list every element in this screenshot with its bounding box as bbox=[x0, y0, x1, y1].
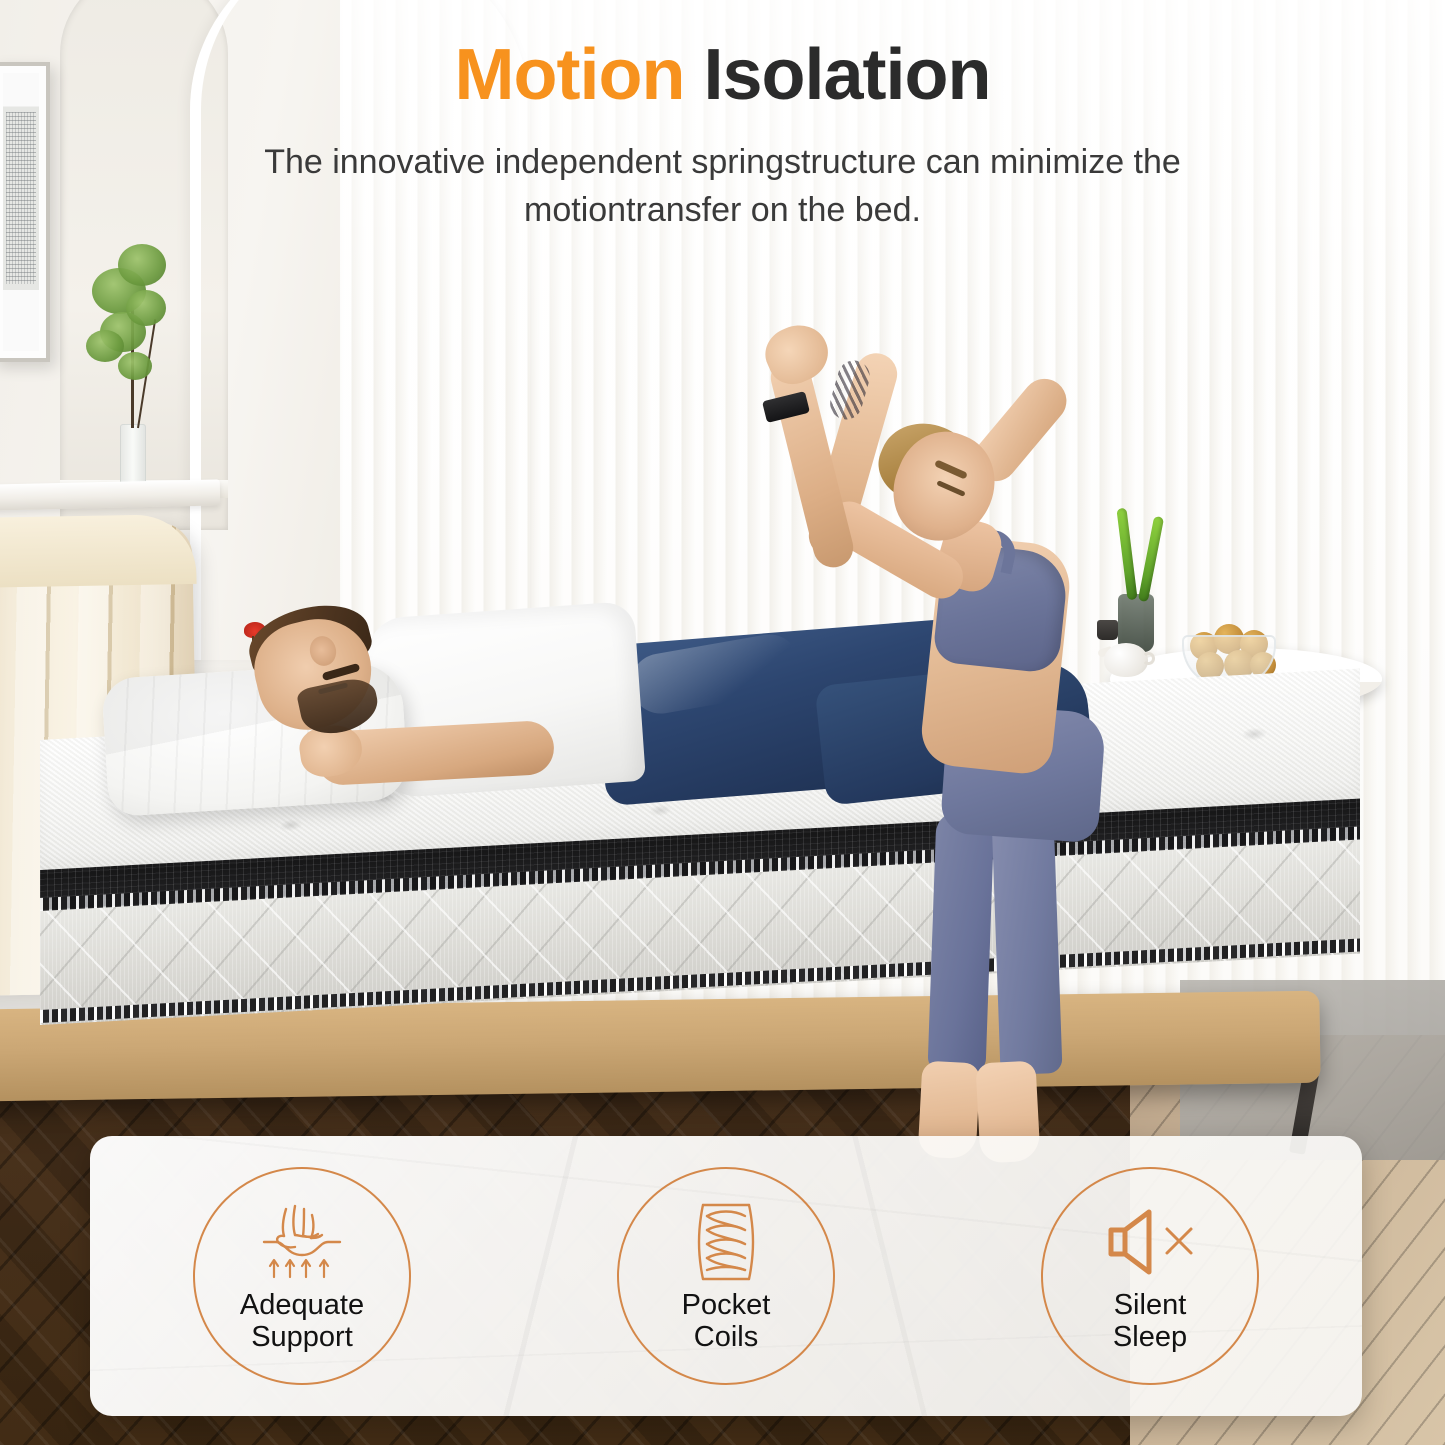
woman-right-leg bbox=[991, 811, 1062, 1075]
headboard-top-curve bbox=[0, 514, 197, 588]
feature-label-line1: Silent bbox=[1113, 1289, 1187, 1321]
feature-label-line2: Coils bbox=[682, 1321, 771, 1353]
feature-badge-label: Pocket Coils bbox=[682, 1289, 771, 1354]
feature-label-line1: Pocket bbox=[682, 1289, 771, 1321]
woman-left-leg bbox=[927, 811, 994, 1073]
feature-badge-list: Adequate Support bbox=[90, 1136, 1362, 1416]
plant-foliage bbox=[86, 330, 124, 362]
plant-foliage bbox=[126, 290, 166, 326]
plant-foliage bbox=[118, 244, 166, 286]
teapot-handle bbox=[1142, 652, 1155, 665]
feature-label-line1: Adequate bbox=[240, 1289, 364, 1321]
feature-badge-label: Silent Sleep bbox=[1113, 1289, 1187, 1354]
feature-panel: Adequate Support bbox=[90, 1136, 1362, 1416]
product-marketing-image: Motion Isolation The innovative independ… bbox=[0, 0, 1445, 1445]
feature-badge-adequate-support[interactable]: Adequate Support bbox=[193, 1167, 411, 1385]
feature-badge-silent-sleep[interactable]: Silent Sleep bbox=[1041, 1167, 1259, 1385]
page-title: Motion Isolation bbox=[0, 38, 1445, 114]
feature-badge-label: Adequate Support bbox=[240, 1289, 364, 1354]
art-print-texture bbox=[6, 112, 36, 284]
headline-rest: Isolation bbox=[684, 35, 990, 115]
pocket-coil-spring-icon bbox=[690, 1199, 762, 1285]
art-mat bbox=[3, 73, 39, 351]
headline-accent-word: Motion bbox=[455, 35, 685, 115]
feature-badge-pocket-coils[interactable]: Pocket Coils bbox=[617, 1167, 835, 1385]
muted-speaker-icon bbox=[1103, 1199, 1197, 1285]
plant-foliage bbox=[118, 352, 152, 380]
feature-label-line2: Support bbox=[240, 1321, 364, 1353]
crown-molding bbox=[0, 479, 220, 510]
dark-cup bbox=[1097, 620, 1118, 640]
hand-pressing-mattress-icon bbox=[256, 1199, 348, 1285]
subheadline: The innovative independent springstructu… bbox=[180, 138, 1265, 235]
glass-vase bbox=[120, 424, 146, 486]
feature-label-line2: Sleep bbox=[1113, 1321, 1187, 1353]
